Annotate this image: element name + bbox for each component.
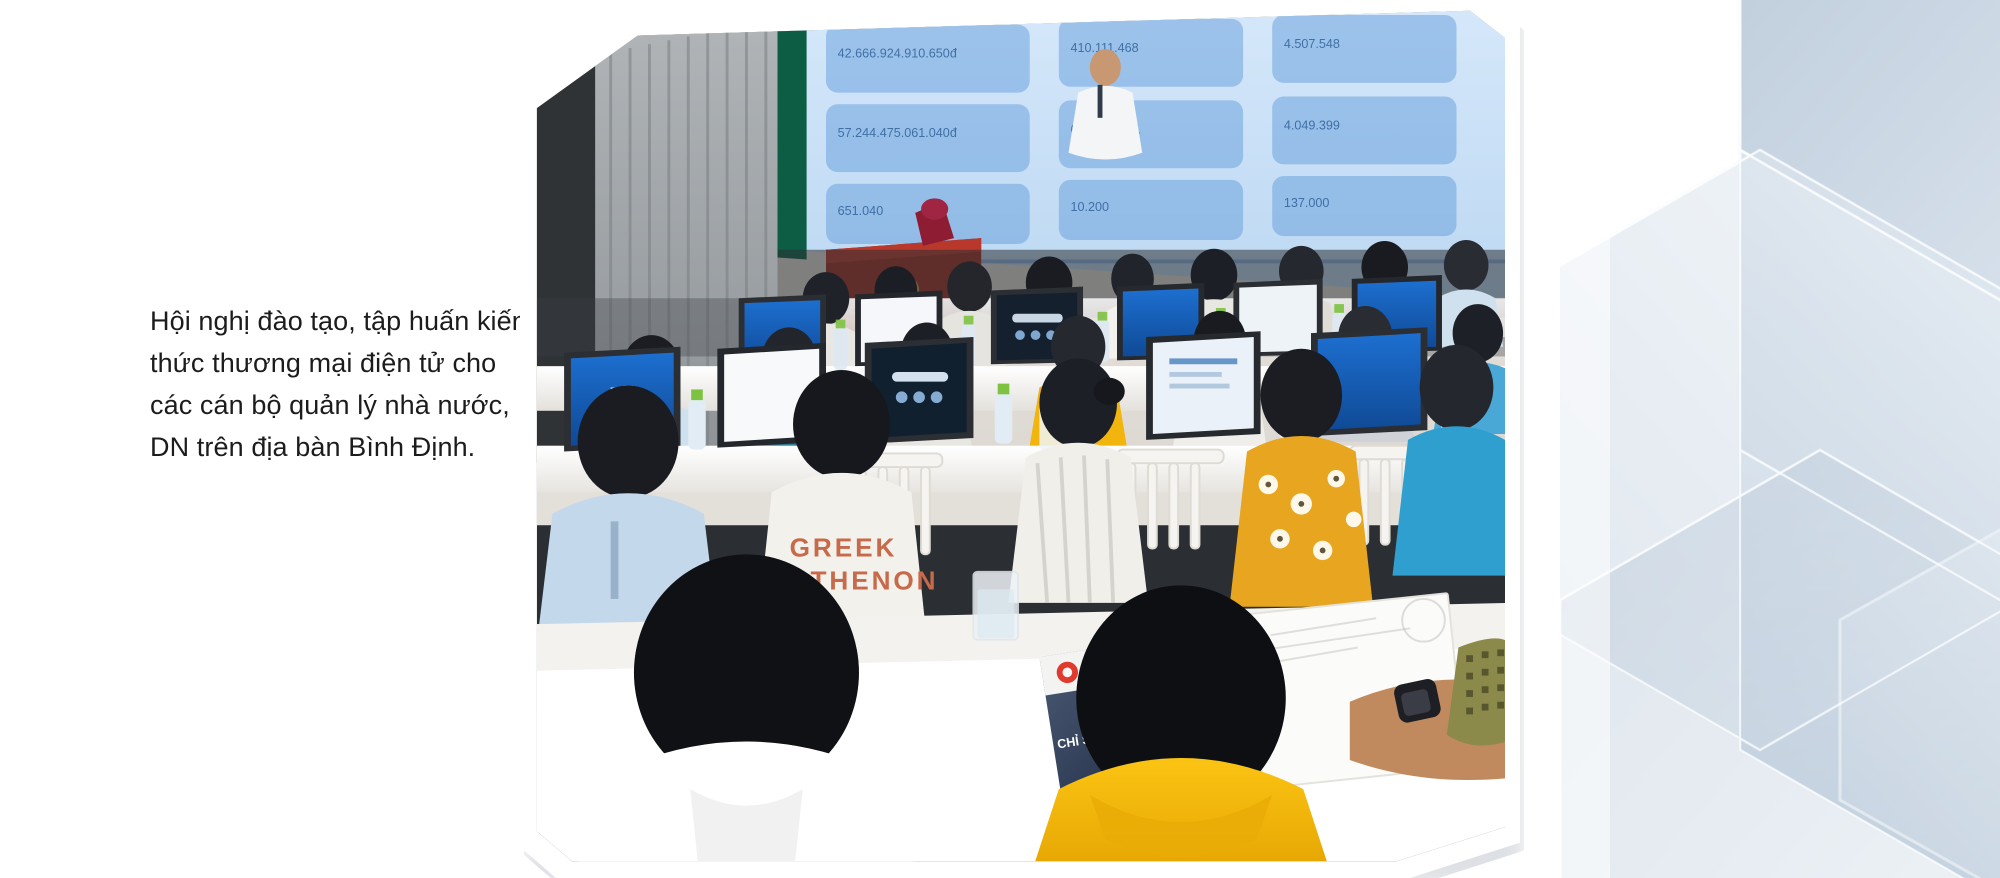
svg-text:137.000: 137.000 — [1284, 196, 1330, 210]
svg-text:42.666.924.910.650đ: 42.666.924.910.650đ — [838, 47, 957, 61]
water-glass — [973, 572, 1018, 640]
caption-line-1: Hội nghị đào tạo, tập huấn kiến — [150, 300, 510, 342]
green-flag — [778, 9, 807, 259]
svg-text:4.049.399: 4.049.399 — [1284, 118, 1340, 132]
conference-training-photo: 42.666.924.910.650đ 410.111.468 4.507.54… — [520, 0, 1520, 878]
tshirt-line-1: GREEK — [790, 532, 898, 562]
hexagon-pattern-svg — [1440, 0, 2000, 878]
conference-room-illustration: 42.666.924.910.650đ 410.111.468 4.507.54… — [535, 9, 1505, 863]
svg-text:651.040: 651.040 — [838, 204, 884, 218]
photo-caption: Hội nghị đào tạo, tập huấn kiến thức thư… — [150, 300, 510, 468]
page-root: Hội nghị đào tạo, tập huấn kiến thức thư… — [0, 0, 2000, 878]
conference-room-scene: 42.666.924.910.650đ 410.111.468 4.507.54… — [535, 9, 1505, 863]
svg-text:4.507.548: 4.507.548 — [1284, 37, 1340, 51]
caption-line-2: thức thương mại điện tử cho — [150, 342, 510, 384]
caption-line-4: DN trên địa bàn Bình Định. — [150, 426, 510, 468]
svg-text:10.200: 10.200 — [1070, 200, 1109, 214]
svg-text:57.244.475.061.040đ: 57.244.475.061.040đ — [838, 126, 957, 140]
photo-image-area: 42.666.924.910.650đ 410.111.468 4.507.54… — [535, 9, 1505, 863]
caption-line-3: các cán bộ quản lý nhà nước, — [150, 384, 510, 426]
hexagon-pattern-decoration — [1440, 0, 2000, 878]
